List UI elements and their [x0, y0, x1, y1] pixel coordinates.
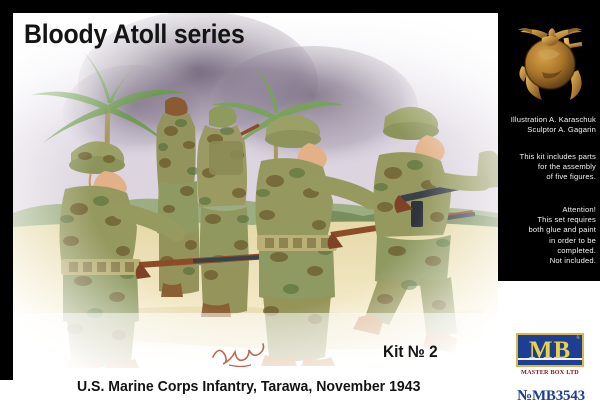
attention-line-3: in order to be — [500, 236, 596, 246]
attention-line-2: both glue and paint — [500, 225, 596, 235]
usmc-eagle-globe-anchor-icon — [508, 10, 592, 104]
attention-block: Attention! This set requires both glue a… — [500, 205, 600, 266]
attention-heading: Attention! — [500, 205, 596, 215]
trademark-symbol: ® — [576, 336, 580, 341]
kit-contents-line-3: of five figures. — [500, 172, 596, 182]
page-title: Bloody Atoll series — [24, 19, 245, 49]
brand-name: MASTER BOX LTD — [516, 369, 584, 376]
master-box-logo: MB ® MASTER BOX LTD — [516, 333, 584, 376]
attention-line-1: This set requires — [500, 215, 596, 225]
mb-badge: MB ® — [516, 333, 584, 367]
cover-artwork — [13, 13, 498, 368]
kit-number: Kit № 2 — [383, 343, 438, 362]
credits-block: Illustration A. Karaschuk Sculptor A. Ga… — [500, 115, 600, 135]
badge-stripe — [518, 358, 582, 360]
kit-contents-line-1: This kit includes parts — [500, 152, 596, 162]
subject-caption-text: U.S. Marine Corps Infantry, Tarawa, Nove… — [77, 378, 420, 395]
credit-illustrator: Illustration A. Karaschuk — [500, 115, 596, 125]
mb-monogram: MB — [518, 335, 582, 365]
info-panel: Illustration A. Karaschuk Sculptor A. Ga… — [498, 0, 600, 281]
kit-contents-line-2: for the assembly — [500, 162, 596, 172]
attention-line-4: completed. — [500, 246, 596, 256]
attention-line-5: Not included. — [500, 256, 596, 266]
box-art-cover: Bloody Atoll series — [0, 0, 600, 419]
artwork-illustration — [13, 13, 498, 368]
frame-border-left — [0, 0, 13, 380]
credit-sculptor: Sculptor A. Gagarin — [500, 125, 596, 135]
catalog-number: №MB3543 — [505, 388, 597, 405]
kit-contents-block: This kit includes parts for the assembly… — [500, 152, 600, 183]
subject-caption: U.S. Marine Corps Infantry, Tarawa, Nove… — [0, 378, 498, 395]
